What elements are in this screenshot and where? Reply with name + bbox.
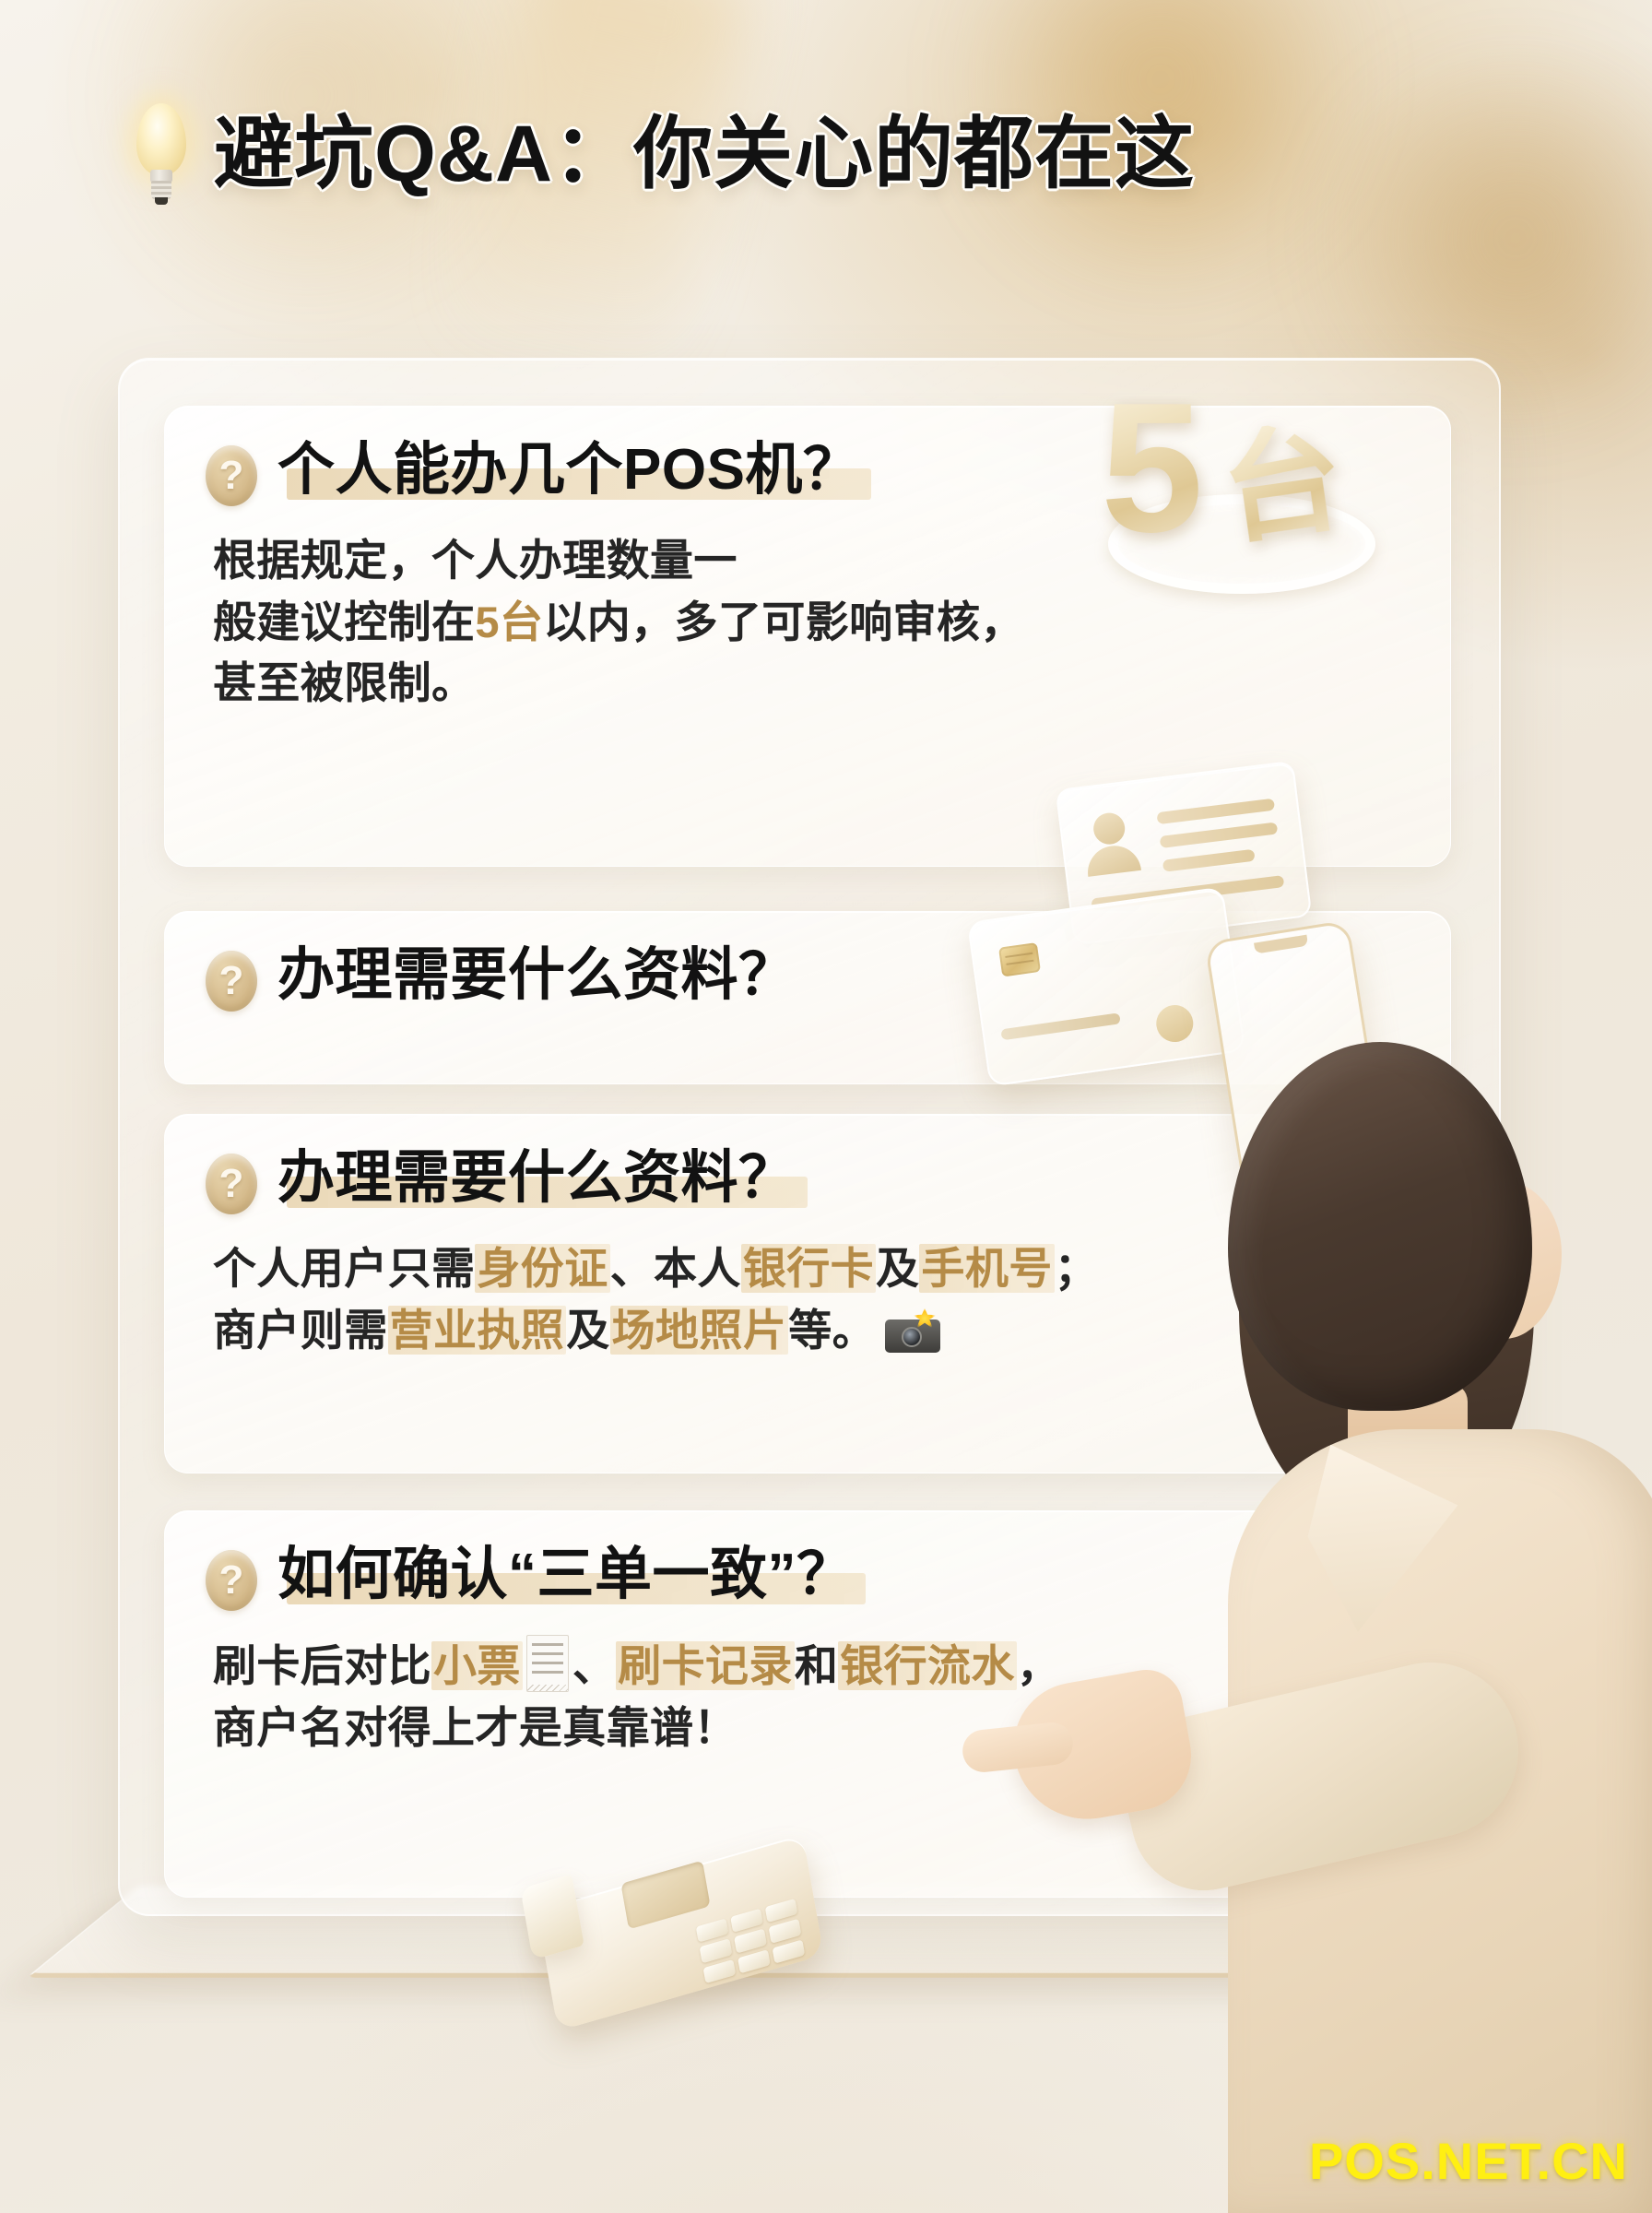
t: 和 bbox=[795, 1641, 838, 1690]
qa-card-1-line-2-b: 以内，多了可影响审核， bbox=[543, 598, 1023, 646]
qa-card-1-line-1: 根据规定，个人办理数量一 bbox=[213, 530, 1410, 592]
qa-card-1-line-2-a: 般建议控制在 bbox=[213, 598, 475, 646]
receipt-line bbox=[532, 1643, 563, 1646]
qa-card-1-title: 个人能办几个POS机？ bbox=[277, 438, 860, 502]
qa-card-2-title-wrap: 办理需要什么资料？ bbox=[277, 943, 796, 1007]
qa-card-1-line-3: 甚至被限制。 bbox=[213, 653, 1410, 715]
qa-card-2-header: ? 办理需要什么资料？ bbox=[206, 943, 1410, 1012]
t: 刷卡后对比 bbox=[213, 1641, 431, 1690]
highlight-site-photo: 场地照片 bbox=[610, 1306, 789, 1355]
qa-card-1-body: 根据规定，个人办理数量一 般建议控制在5台以内，多了可影响审核， 甚至被限制。 bbox=[213, 530, 1410, 715]
qa-card-4[interactable]: ? 如何确认“三单一致”？ 刷卡后对比小票、刷卡记录和银行流水， 商户名对得上才… bbox=[164, 1510, 1451, 1898]
t: 个人用户只需 bbox=[213, 1244, 475, 1293]
highlight-card-records: 刷卡记录 bbox=[616, 1641, 795, 1690]
lightbulb-glass bbox=[136, 103, 186, 175]
qa-card-4-line-2: 商户名对得上才是真靠谱！ bbox=[213, 1698, 1410, 1759]
t: 、本人 bbox=[610, 1244, 741, 1293]
page-title: 避坑Q&A：你关心的都在这 bbox=[129, 103, 1195, 205]
page-title-text: 避坑Q&A：你关心的都在这 bbox=[214, 114, 1195, 194]
lightbulb-base bbox=[151, 181, 171, 199]
qa-card-3-line-1: 个人用户只需身份证、本人银行卡及手机号； bbox=[213, 1238, 1410, 1300]
receipt-icon bbox=[526, 1635, 569, 1692]
receipt-line bbox=[532, 1662, 563, 1664]
t: ， bbox=[1017, 1641, 1060, 1690]
highlight-id-card: 身份证 bbox=[475, 1244, 609, 1293]
t: 商户则需 bbox=[213, 1306, 388, 1355]
qa-card-4-line-1: 刷卡后对比小票、刷卡记录和银行流水， bbox=[213, 1635, 1410, 1698]
t: 等。 bbox=[788, 1306, 876, 1355]
receipt-tear-edge bbox=[527, 1685, 568, 1691]
qa-card-4-title-wrap: 如何确认“三单一致”？ bbox=[277, 1543, 855, 1606]
highlight-receipt: 小票 bbox=[431, 1641, 523, 1690]
receipt-line bbox=[532, 1671, 563, 1674]
t: 及 bbox=[566, 1306, 609, 1355]
highlight-phone-number: 手机号 bbox=[919, 1244, 1054, 1293]
qa-card-1-header: ? 个人能办几个POS机？ bbox=[206, 438, 1410, 506]
qa-card-1-title-wrap: 个人能办几个POS机？ bbox=[277, 438, 860, 502]
question-mark-icon: ? bbox=[206, 1550, 257, 1611]
lightbulb-icon bbox=[129, 103, 194, 205]
receipt-line bbox=[532, 1652, 563, 1655]
question-mark-icon: ? bbox=[206, 951, 257, 1012]
highlight-business-license: 营业执照 bbox=[388, 1306, 567, 1355]
qa-card-4-title: 如何确认“三单一致”？ bbox=[277, 1543, 855, 1606]
qa-card-3-line-2: 商户则需营业执照及场地照片等。 bbox=[213, 1300, 1410, 1362]
qa-card-1-highlight-5units: 5台 bbox=[475, 598, 543, 646]
camera-lens bbox=[902, 1327, 922, 1347]
lightbulb-tip bbox=[155, 197, 168, 205]
qa-card-1-line-2: 般建议控制在5台以内，多了可影响审核， bbox=[213, 592, 1410, 654]
t: 及 bbox=[876, 1244, 919, 1293]
question-mark-icon: ? bbox=[206, 445, 257, 506]
t: ； bbox=[1055, 1244, 1098, 1293]
qa-card-4-body: 刷卡后对比小票、刷卡记录和银行流水， 商户名对得上才是真靠谱！ bbox=[213, 1635, 1410, 1758]
camera-with-flash-icon bbox=[885, 1310, 940, 1353]
qa-card-2-title: 办理需要什么资料？ bbox=[277, 943, 796, 1007]
question-mark-icon: ? bbox=[206, 1154, 257, 1214]
t: 、 bbox=[572, 1641, 616, 1690]
qa-card-4-header: ? 如何确认“三单一致”？ bbox=[206, 1543, 1410, 1611]
highlight-bank-statement: 银行流水 bbox=[838, 1641, 1017, 1690]
qa-card-3[interactable]: ? 办理需要什么资料？ 个人用户只需身份证、本人银行卡及手机号； 商户则需营业执… bbox=[164, 1114, 1451, 1473]
qa-card-1[interactable]: ? 个人能办几个POS机？ 根据规定，个人办理数量一 般建议控制在5台以内，多了… bbox=[164, 406, 1451, 867]
qa-card-2[interactable]: ? 办理需要什么资料？ bbox=[164, 911, 1451, 1084]
site-watermark: POS.NET.CN bbox=[1309, 2131, 1628, 2191]
qa-card-3-title: 办理需要什么资料？ bbox=[277, 1146, 796, 1210]
qa-card-3-title-wrap: 办理需要什么资料？ bbox=[277, 1146, 796, 1210]
highlight-bank-card: 银行卡 bbox=[741, 1244, 876, 1293]
qa-card-3-header: ? 办理需要什么资料？ bbox=[206, 1146, 1410, 1214]
qa-card-3-body: 个人用户只需身份证、本人银行卡及手机号； 商户则需营业执照及场地照片等。 bbox=[213, 1238, 1410, 1361]
